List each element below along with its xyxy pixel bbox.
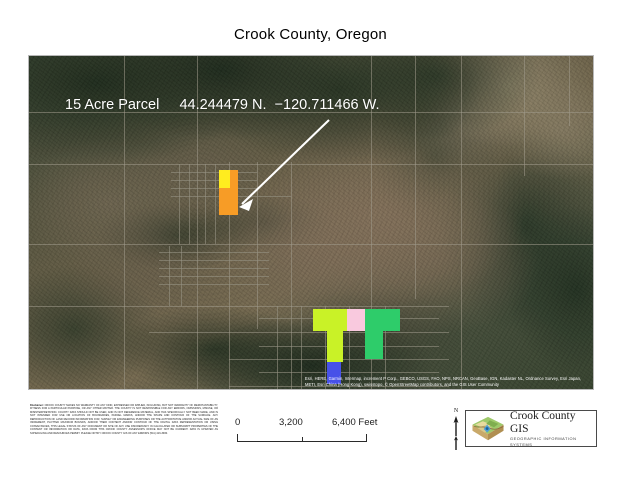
subject-parcel-inset-polygon[interactable] xyxy=(219,170,230,188)
scale-label-end: 6,400 Feet xyxy=(332,417,377,428)
logo-title: Crook County GIS xyxy=(510,410,596,436)
north-arrow-needle-icon xyxy=(448,415,464,451)
logo-text-block: Crook County GIS GEOGRAPHIC INFORMATION … xyxy=(510,410,596,448)
map-annotation-label: 15 Acre Parcel 44.244479 N. −120.711466 … xyxy=(65,97,380,113)
disclaimer-text: Disclaimer: CROOK COUNTY MAKES NO WARRAN… xyxy=(30,404,218,435)
gis-map-block-icon xyxy=(469,414,507,444)
scale-label-middle: 3,200 xyxy=(279,417,303,428)
basemap-attribution: Esri, HERE, Garmin, Intermap, increment … xyxy=(305,376,591,387)
crook-county-gis-logo: Crook County GIS GEOGRAPHIC INFORMATION … xyxy=(465,410,597,447)
parcel-green-stem[interactable] xyxy=(365,331,383,359)
scale-bar: 0 3,200 6,400 Feet xyxy=(235,417,385,449)
map-canvas[interactable]: 15 Acre Parcel 44.244479 N. −120.711466 … xyxy=(28,55,594,390)
parcel-green-top[interactable] xyxy=(365,309,400,331)
page-title: Crook County, Oregon xyxy=(0,26,621,43)
north-arrow-label: N xyxy=(448,408,464,415)
disclaimer-body: CROOK COUNTY MAKES NO WARRANTY OF ANY KI… xyxy=(30,404,218,435)
parcel-yellowgreen-stem[interactable] xyxy=(327,331,343,362)
scale-bar-labels: 0 3,200 6,400 Feet xyxy=(235,417,385,431)
logo-subtitle: GEOGRAPHIC INFORMATION SYSTEMS xyxy=(510,436,596,448)
scale-bar-ruler xyxy=(237,434,367,442)
scale-label-start: 0 xyxy=(235,417,240,428)
north-arrow-icon: N xyxy=(448,408,464,452)
